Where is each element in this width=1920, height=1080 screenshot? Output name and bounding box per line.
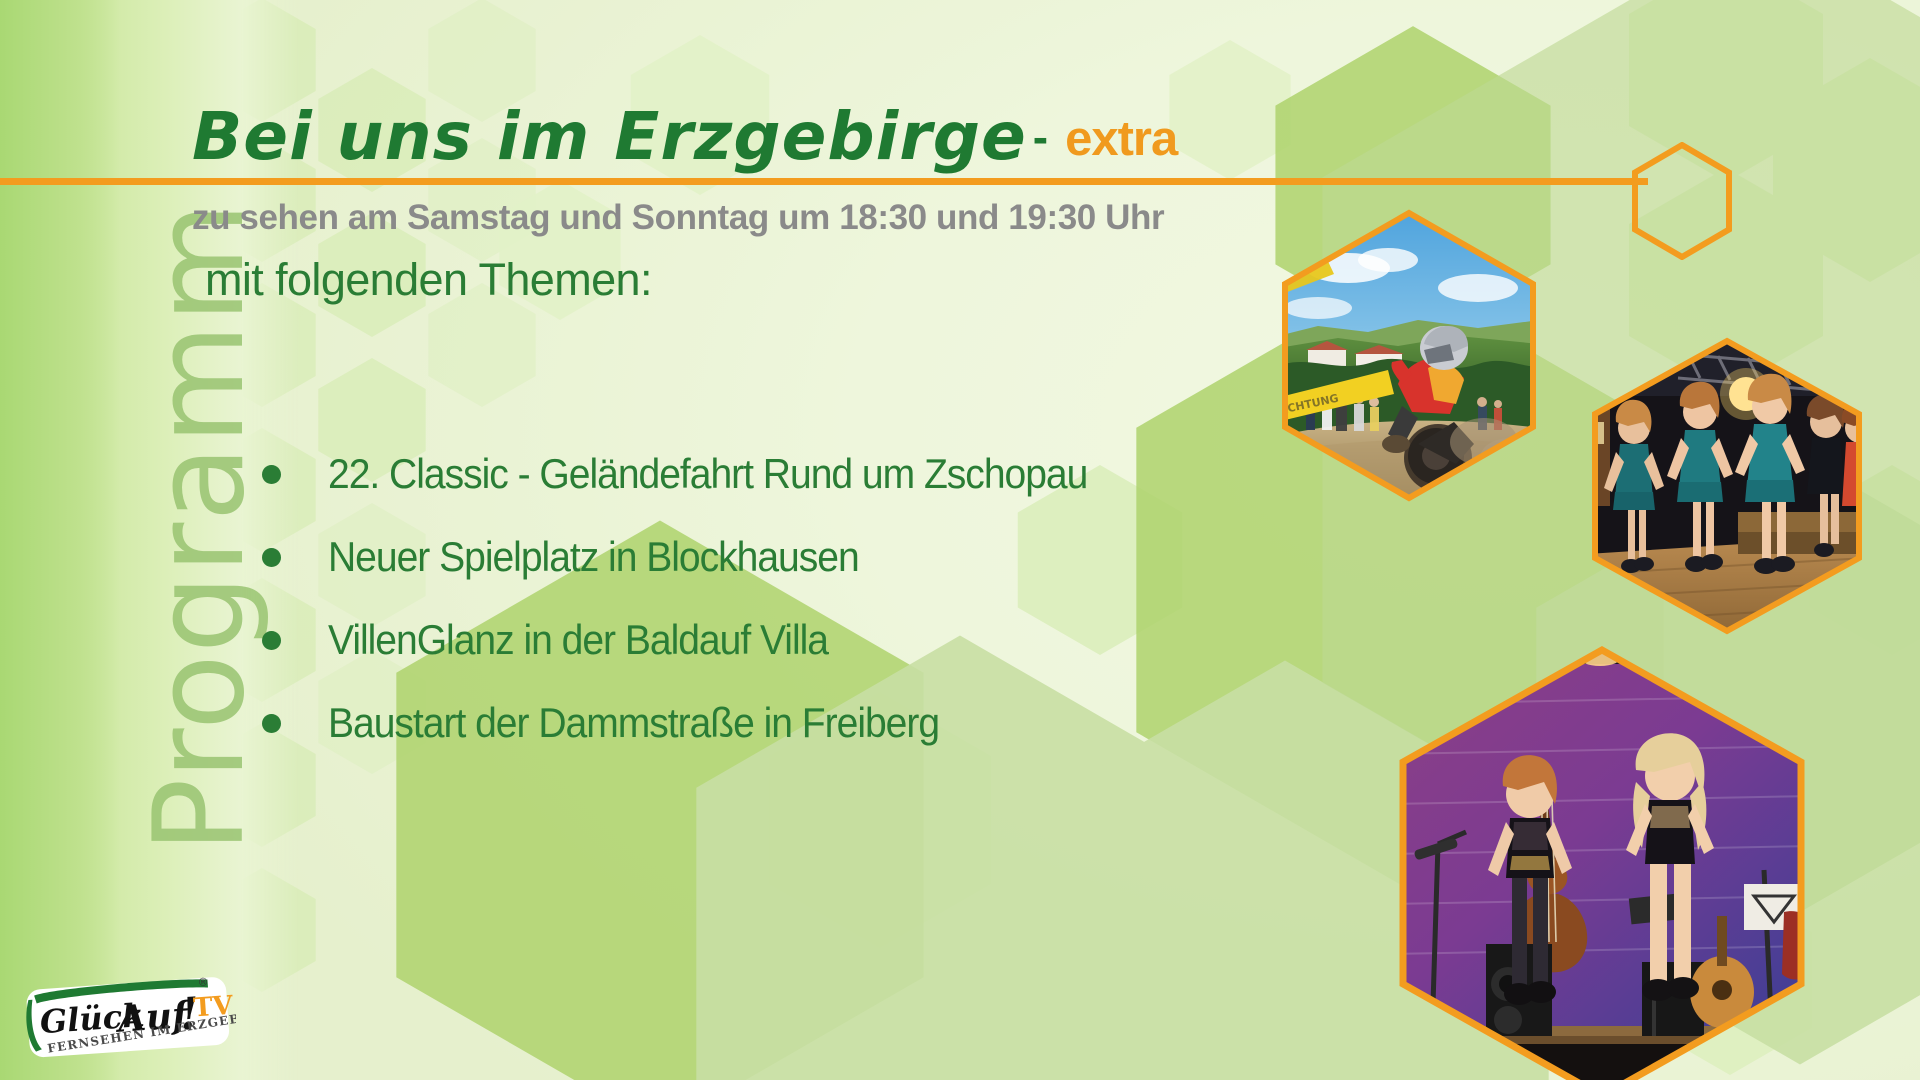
list-item: Neuer Spielplatz in Blockhausen bbox=[262, 533, 1144, 581]
list-item: VillenGlanz in der Baldauf Villa bbox=[262, 616, 1144, 664]
broadcast-times: zu sehen am Samstag und Sonntag um 18:30… bbox=[192, 198, 1164, 238]
topics-list: 22. Classic - Geländefahrt Rund um Zscho… bbox=[262, 450, 1144, 782]
photo-motocross: ACHTUNG ACHTUNG bbox=[1278, 208, 1540, 503]
page-title-extra: extra bbox=[1065, 112, 1177, 166]
page-title-script: Bei uns im Erzgebirge bbox=[192, 98, 1027, 175]
bullet-icon bbox=[262, 548, 281, 567]
orange-hexagon-accent bbox=[1630, 142, 1734, 265]
bullet-icon bbox=[262, 631, 281, 650]
photo-dancers-svg bbox=[1588, 336, 1866, 636]
page-title: Bei uns im Erzgebirge-extra bbox=[192, 104, 1177, 170]
bullet-icon bbox=[262, 714, 281, 733]
photo-duo-svg bbox=[1392, 644, 1812, 1080]
list-item: Baustart der Dammstraße in Freiberg bbox=[262, 699, 1144, 747]
topic-label: VillenGlanz in der Baldauf Villa bbox=[328, 616, 828, 664]
left-green-gradient-inner bbox=[0, 0, 120, 1080]
logo-glueckauf-tv[interactable]: Glück Auf ! TV ® FERNSEHEN IM ERZGEBIRGE bbox=[24, 975, 236, 1063]
topic-label: Baustart der Dammstraße in Freiberg bbox=[328, 699, 939, 747]
page-title-dash: - bbox=[1033, 111, 1049, 163]
orange-divider-rule bbox=[0, 178, 1648, 185]
photo-duo bbox=[1392, 644, 1812, 1080]
slide-canvas: Programm Bei uns im Erzgebirge-extra zu … bbox=[0, 0, 1920, 1080]
photo-motocross-svg: ACHTUNG ACHTUNG bbox=[1278, 208, 1540, 503]
topics-intro: mit folgenden Themen: bbox=[205, 254, 652, 306]
list-item: 22. Classic - Geländefahrt Rund um Zscho… bbox=[262, 450, 1144, 498]
logo-registered-mark: ® bbox=[197, 975, 209, 989]
photo-dancers bbox=[1588, 336, 1866, 636]
topic-label: Neuer Spielplatz in Blockhausen bbox=[328, 533, 859, 581]
topic-label: 22. Classic - Geländefahrt Rund um Zscho… bbox=[328, 450, 1087, 498]
bullet-icon bbox=[262, 465, 281, 484]
